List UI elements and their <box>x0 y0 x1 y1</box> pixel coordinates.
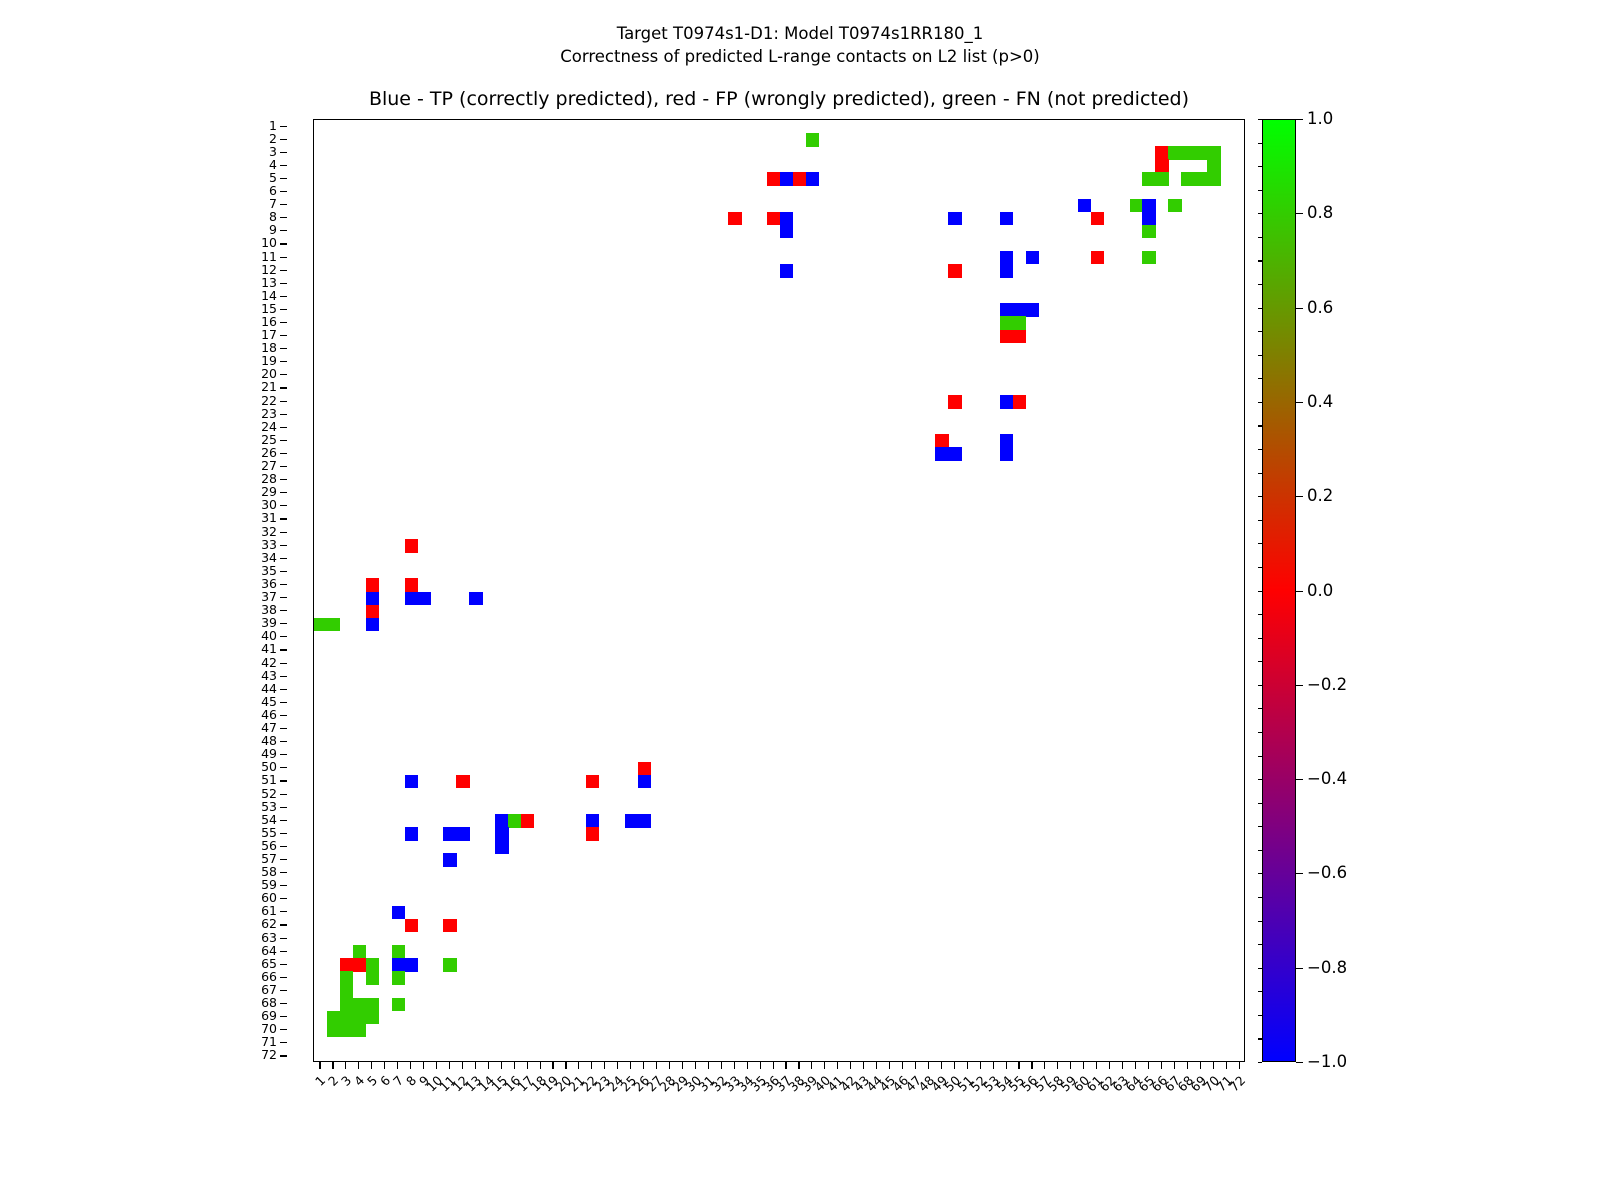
y-tick-mark <box>280 977 287 978</box>
contact-cell <box>1000 395 1013 408</box>
contact-cell <box>443 827 456 840</box>
x-tick-mark <box>695 1062 696 1069</box>
contact-cell <box>1026 251 1039 264</box>
y-tick-mark <box>280 466 287 467</box>
x-tick-mark <box>501 1062 502 1069</box>
contact-cell <box>443 919 456 932</box>
y-tick-mark <box>280 283 287 284</box>
contact-cell <box>366 998 379 1011</box>
contact-cell <box>767 212 780 225</box>
contact-cell <box>586 775 599 788</box>
y-tick-mark <box>280 243 287 244</box>
y-tick-mark <box>280 348 287 349</box>
y-tick-mark <box>280 938 287 939</box>
y-tick-mark <box>280 126 287 127</box>
y-tick-mark <box>280 571 287 572</box>
contact-cell <box>353 1024 366 1037</box>
contact-cell <box>1026 303 1039 316</box>
x-tick-mark <box>1018 1062 1019 1069</box>
y-tick-mark <box>280 859 287 860</box>
x-tick-mark <box>967 1062 968 1069</box>
y-tick-mark <box>280 990 287 991</box>
x-tick-mark <box>798 1062 799 1069</box>
contact-cell <box>948 447 961 460</box>
x-tick-mark <box>1006 1062 1007 1069</box>
contact-cell <box>405 539 418 552</box>
contact-cell <box>1142 172 1155 185</box>
y-tick-mark <box>280 532 287 533</box>
contact-cell <box>638 762 651 775</box>
contact-cell <box>806 133 819 146</box>
contact-cell <box>1194 172 1207 185</box>
contact-cell <box>1000 303 1013 316</box>
y-tick-mark <box>280 178 287 179</box>
x-tick-mark <box>565 1062 566 1069</box>
contact-cell <box>495 840 508 853</box>
contact-cell <box>935 447 948 460</box>
y-tick-mark <box>280 754 287 755</box>
contact-cell <box>1142 199 1155 212</box>
x-tick-mark <box>643 1062 644 1069</box>
x-tick-mark <box>552 1062 553 1069</box>
contact-cell <box>806 172 819 185</box>
contact-cell <box>353 1011 366 1024</box>
contact-cell <box>366 958 379 971</box>
x-tick-mark <box>436 1062 437 1069</box>
contact-cell <box>366 618 379 631</box>
y-tick-mark <box>280 270 287 271</box>
y-tick-mark <box>280 741 287 742</box>
x-tick-mark <box>1226 1062 1227 1069</box>
y-tick-mark <box>280 820 287 821</box>
x-tick-mark <box>889 1062 890 1069</box>
y-tick-mark <box>280 230 287 231</box>
y-tick-mark <box>280 951 287 952</box>
y-tick-mark <box>280 807 287 808</box>
x-tick-mark <box>902 1062 903 1069</box>
x-tick-mark <box>1083 1062 1084 1069</box>
y-tick-mark <box>280 846 287 847</box>
y-tick-mark <box>280 898 287 899</box>
contact-cell <box>1168 199 1181 212</box>
colorbar-tick-mark <box>1296 213 1303 214</box>
y-tick-mark <box>280 322 287 323</box>
contact-cell <box>366 605 379 618</box>
contact-cell <box>366 1011 379 1024</box>
y-tick-mark <box>280 401 287 402</box>
colorbar-tick-label: −0.8 <box>1307 959 1347 976</box>
contact-cell <box>1000 434 1013 447</box>
contact-cell <box>456 775 469 788</box>
y-tick-mark <box>280 217 287 218</box>
contact-cell <box>638 775 651 788</box>
x-tick-mark <box>604 1062 605 1069</box>
colorbar-tick-mark <box>1296 308 1303 309</box>
y-tick-mark <box>280 1042 287 1043</box>
x-tick-mark <box>540 1062 541 1069</box>
contact-cell <box>780 264 793 277</box>
x-tick-mark <box>319 1062 320 1069</box>
contact-cell <box>340 971 353 984</box>
x-tick-mark <box>462 1062 463 1069</box>
contact-cell <box>935 434 948 447</box>
contact-cell <box>586 814 599 827</box>
colorbar-tick-label: 0.2 <box>1307 488 1333 505</box>
contact-cell <box>443 853 456 866</box>
x-tick-mark <box>1135 1062 1136 1069</box>
colorbar-tick-label: 0.4 <box>1307 394 1333 411</box>
y-tick-mark <box>280 204 287 205</box>
x-tick-mark <box>708 1062 709 1069</box>
contact-cell <box>340 958 353 971</box>
colorbar-left-minor-ticks <box>1240 119 1262 1062</box>
x-tick-mark <box>993 1062 994 1069</box>
contact-cell <box>340 998 353 1011</box>
y-tick-mark <box>280 676 287 677</box>
contact-cell <box>1155 146 1168 159</box>
contact-cell <box>405 578 418 591</box>
y-tick-mark <box>280 427 287 428</box>
contact-cell <box>1142 225 1155 238</box>
colorbar-tick-mark <box>1296 779 1303 780</box>
colorbar <box>1262 119 1296 1062</box>
y-tick-mark <box>280 794 287 795</box>
contact-cell <box>1168 146 1181 159</box>
contact-cell <box>495 827 508 840</box>
x-tick-mark <box>345 1062 346 1069</box>
colorbar-tick-mark <box>1296 873 1303 874</box>
contact-cell <box>1155 172 1168 185</box>
axes-legend-title: Blue - TP (correctly predicted), red - F… <box>313 88 1245 110</box>
contact-cell <box>1091 251 1104 264</box>
contact-map-cells <box>314 120 1244 1061</box>
contact-cell <box>1194 146 1207 159</box>
colorbar-tick-label: 0.8 <box>1307 205 1333 222</box>
contact-cell <box>1000 316 1013 329</box>
y-tick-mark <box>280 387 287 388</box>
x-tick-mark <box>410 1062 411 1069</box>
x-tick-mark <box>630 1062 631 1069</box>
x-tick-mark <box>785 1062 786 1069</box>
y-tick-mark <box>280 440 287 441</box>
y-tick-mark <box>280 361 287 362</box>
x-tick-mark <box>1187 1062 1188 1069</box>
y-tick-mark <box>280 191 287 192</box>
y-tick-mark <box>280 610 287 611</box>
x-tick-mark <box>423 1062 424 1069</box>
y-tick-mark <box>280 335 287 336</box>
x-tick-mark <box>760 1062 761 1069</box>
contact-cell <box>1013 395 1026 408</box>
contact-cell <box>1000 212 1013 225</box>
x-tick-mark <box>721 1062 722 1069</box>
contact-cell <box>1207 159 1220 172</box>
x-tick-mark <box>397 1062 398 1069</box>
contact-cell <box>1207 146 1220 159</box>
colorbar-tick-mark <box>1296 402 1303 403</box>
x-tick-mark <box>656 1062 657 1069</box>
y-tick-mark <box>280 545 287 546</box>
x-tick-mark <box>876 1062 877 1069</box>
y-tick-mark <box>280 165 287 166</box>
x-tick-mark <box>1122 1062 1123 1069</box>
y-tick-mark <box>280 663 287 664</box>
y-tick-mark <box>280 309 287 310</box>
contact-cell <box>405 958 418 971</box>
contact-cell <box>780 225 793 238</box>
contact-cell <box>508 814 521 827</box>
contact-cell <box>948 264 961 277</box>
contact-cell <box>1130 199 1143 212</box>
x-tick-mark <box>941 1062 942 1069</box>
contact-cell <box>1000 330 1013 343</box>
contact-cell <box>405 919 418 932</box>
contact-cell <box>1013 316 1026 329</box>
x-tick-mark <box>358 1062 359 1069</box>
x-tick-mark <box>682 1062 683 1069</box>
contact-cell <box>1078 199 1091 212</box>
x-tick-mark <box>475 1062 476 1069</box>
x-tick-mark <box>1096 1062 1097 1069</box>
y-tick-mark <box>280 584 287 585</box>
contact-cell <box>495 814 508 827</box>
contact-cell <box>327 618 340 631</box>
x-tick-mark <box>527 1062 528 1069</box>
x-tick-mark <box>669 1062 670 1069</box>
contact-cell <box>1013 303 1026 316</box>
contact-cell <box>1181 172 1194 185</box>
contact-cell <box>327 1024 340 1037</box>
x-tick-mark <box>371 1062 372 1069</box>
contact-cell <box>1000 264 1013 277</box>
contact-cell <box>340 984 353 997</box>
y-axis: 1234567891011121314151617181920212223242… <box>0 119 313 1062</box>
contact-cell <box>340 1024 353 1037</box>
figure-title-line-1: Target T0974s1-D1: Model T0974s1RR180_1 <box>0 22 1600 45</box>
colorbar-minor-tick <box>1258 1062 1262 1063</box>
x-tick-mark <box>1148 1062 1149 1069</box>
contact-cell <box>948 212 961 225</box>
x-tick-mark <box>954 1062 955 1069</box>
contact-cell <box>1091 212 1104 225</box>
y-tick-mark <box>280 911 287 912</box>
y-tick-mark <box>280 1029 287 1030</box>
x-tick-mark <box>837 1062 838 1069</box>
x-tick-mark <box>915 1062 916 1069</box>
y-tick-mark <box>280 780 287 781</box>
x-tick-mark <box>578 1062 579 1069</box>
y-tick-mark <box>280 636 287 637</box>
x-tick-mark <box>1057 1062 1058 1069</box>
y-tick-mark <box>280 505 287 506</box>
x-tick-mark <box>1109 1062 1110 1069</box>
y-tick-mark <box>280 833 287 834</box>
contact-cell <box>353 958 366 971</box>
contact-cell <box>780 212 793 225</box>
contact-cell <box>1013 330 1026 343</box>
y-tick-mark <box>280 1003 287 1004</box>
contact-cell <box>638 814 651 827</box>
x-tick-mark <box>449 1062 450 1069</box>
colorbar-tick-label: 0.0 <box>1307 582 1333 599</box>
y-tick-mark <box>280 296 287 297</box>
contact-cell <box>366 592 379 605</box>
contact-cell <box>353 945 366 958</box>
x-tick-mark <box>747 1062 748 1069</box>
contact-cell <box>625 814 638 827</box>
x-tick-mark <box>773 1062 774 1069</box>
contact-cell <box>469 592 482 605</box>
x-tick-mark <box>928 1062 929 1069</box>
contact-cell <box>456 827 469 840</box>
x-tick-mark <box>824 1062 825 1069</box>
x-tick-mark <box>734 1062 735 1069</box>
x-tick-mark <box>1174 1062 1175 1069</box>
y-tick-mark <box>280 885 287 886</box>
x-tick-mark <box>488 1062 489 1069</box>
y-tick-mark <box>280 924 287 925</box>
contact-cell <box>392 945 405 958</box>
y-tick-mark <box>280 649 287 650</box>
contact-cell <box>418 592 431 605</box>
contact-cell <box>366 578 379 591</box>
x-tick-mark <box>811 1062 812 1069</box>
contact-cell <box>392 906 405 919</box>
x-tick-mark <box>514 1062 515 1069</box>
contact-cell <box>1142 212 1155 225</box>
colorbar-tick-label: 1.0 <box>1307 111 1333 128</box>
y-tick-mark <box>280 479 287 480</box>
colorbar-tick-mark <box>1296 496 1303 497</box>
colorbar-ticks: 1.00.80.60.40.20.0−0.2−0.4−0.6−0.8−1.0 <box>1296 119 1406 1062</box>
y-tick-mark <box>280 257 287 258</box>
contact-cell <box>1000 447 1013 460</box>
y-tick-mark <box>280 1016 287 1017</box>
x-tick-mark <box>1044 1062 1045 1069</box>
colorbar-tick-mark <box>1296 968 1303 969</box>
y-tick-mark <box>280 1055 287 1056</box>
x-tick-mark <box>384 1062 385 1069</box>
colorbar-tick-label: −0.4 <box>1307 771 1347 788</box>
figure-title-block: Target T0974s1-D1: Model T0974s1RR180_1 … <box>0 22 1600 68</box>
contact-cell <box>793 172 806 185</box>
contact-cell <box>586 827 599 840</box>
contact-cell <box>1000 251 1013 264</box>
y-tick-mark <box>280 492 287 493</box>
y-tick-mark <box>280 964 287 965</box>
y-tick-mark <box>280 152 287 153</box>
x-tick-mark <box>1213 1062 1214 1069</box>
contact-cell <box>366 971 379 984</box>
y-tick-mark <box>280 728 287 729</box>
contact-cell <box>314 618 327 631</box>
contact-cell <box>392 998 405 1011</box>
x-tick-mark <box>332 1062 333 1069</box>
contact-cell <box>728 212 741 225</box>
contact-cell <box>443 958 456 971</box>
y-tick-mark <box>280 702 287 703</box>
colorbar-gradient <box>1263 120 1295 1061</box>
colorbar-tick-mark <box>1296 591 1303 592</box>
y-tick-mark <box>280 518 287 519</box>
y-tick-mark <box>280 374 287 375</box>
colorbar-tick-label: −0.6 <box>1307 865 1347 882</box>
x-tick-mark <box>1031 1062 1032 1069</box>
x-tick-mark <box>1200 1062 1201 1069</box>
y-tick-label: 72 <box>261 1049 277 1062</box>
contact-map-plot <box>313 119 1245 1062</box>
y-tick-mark <box>280 689 287 690</box>
x-tick-mark <box>850 1062 851 1069</box>
y-tick-mark <box>280 558 287 559</box>
y-tick-mark <box>280 623 287 624</box>
contact-cell <box>340 1011 353 1024</box>
colorbar-tick-label: −0.2 <box>1307 677 1347 694</box>
y-tick-mark <box>280 872 287 873</box>
contact-cell <box>353 998 366 1011</box>
contact-cell <box>1207 172 1220 185</box>
colorbar-tick-mark <box>1296 119 1303 120</box>
colorbar-tick-label: 0.6 <box>1307 299 1333 316</box>
x-tick-mark <box>980 1062 981 1069</box>
contact-cell <box>521 814 534 827</box>
x-tick-mark <box>863 1062 864 1069</box>
x-tick-mark <box>617 1062 618 1069</box>
y-tick-mark <box>280 414 287 415</box>
colorbar-tick-mark <box>1296 1062 1303 1063</box>
x-tick-mark <box>1161 1062 1162 1069</box>
colorbar-tick-label: −1.0 <box>1307 1054 1347 1071</box>
contact-cell <box>767 172 780 185</box>
contact-cell <box>1142 251 1155 264</box>
y-tick-mark <box>280 453 287 454</box>
y-tick-mark <box>280 597 287 598</box>
y-tick-mark <box>280 715 287 716</box>
contact-cell <box>392 971 405 984</box>
contact-cell <box>948 395 961 408</box>
contact-cell <box>1155 159 1168 172</box>
x-tick-mark <box>1070 1062 1071 1069</box>
contact-cell <box>392 958 405 971</box>
x-axis: 1234567891011121314151617181920212223242… <box>313 1062 1245 1192</box>
contact-cell <box>405 827 418 840</box>
x-tick-mark <box>1239 1062 1240 1069</box>
figure-title-line-2: Correctness of predicted L-range contact… <box>0 45 1600 68</box>
contact-cell <box>405 592 418 605</box>
y-tick-mark <box>280 767 287 768</box>
colorbar-tick-mark <box>1296 685 1303 686</box>
contact-cell <box>1181 146 1194 159</box>
contact-cell <box>327 1011 340 1024</box>
x-tick-mark <box>591 1062 592 1069</box>
contact-cell <box>780 172 793 185</box>
y-tick-mark <box>280 139 287 140</box>
contact-cell <box>405 775 418 788</box>
